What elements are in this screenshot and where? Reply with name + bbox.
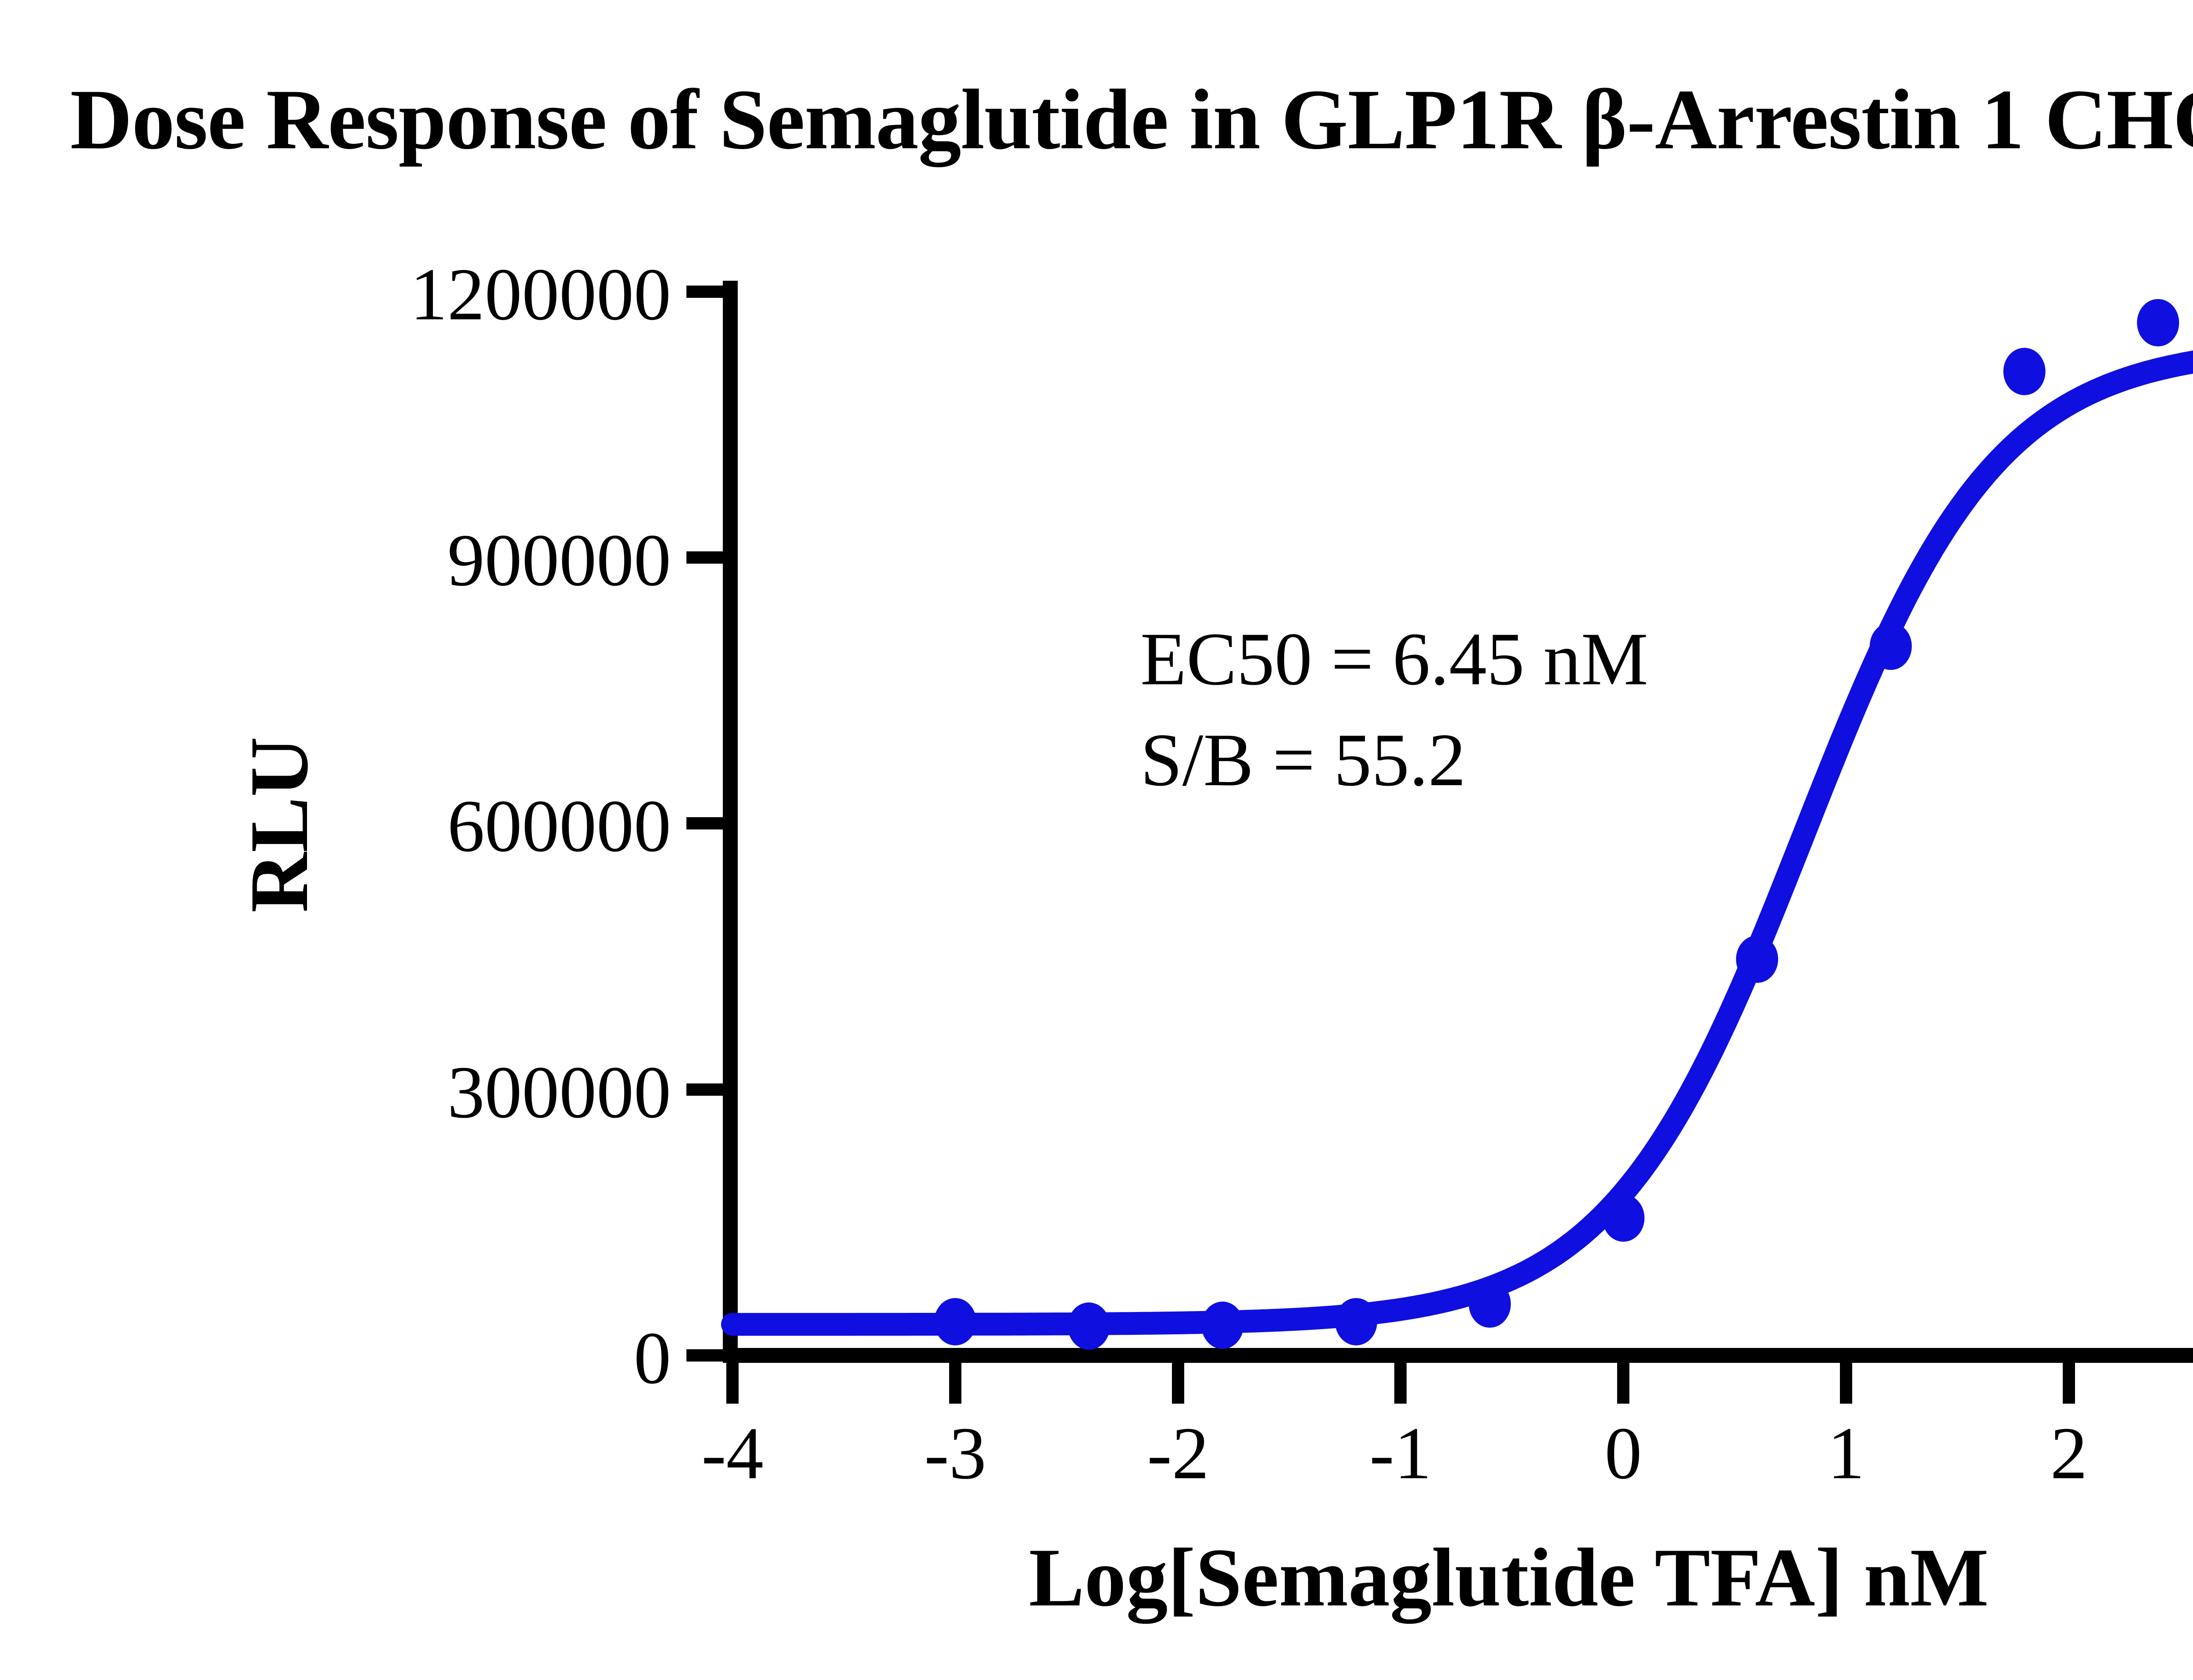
- data-point: [2137, 299, 2179, 347]
- y-tick-label-4: 1200000: [410, 253, 671, 336]
- x-tick-label-1: -3: [924, 1412, 986, 1494]
- data-point: [1736, 936, 1778, 983]
- y-tick-label-3: 900000: [447, 519, 671, 601]
- data-point: [1335, 1298, 1377, 1345]
- y-tick-label-2: 600000: [447, 785, 671, 867]
- x-tick-label-6: 2: [2050, 1412, 2088, 1494]
- y-tick-label-1: 300000: [447, 1051, 671, 1133]
- x-tick-label-5: 1: [1828, 1412, 1865, 1494]
- y-axis-title: RLU: [233, 736, 325, 912]
- data-point: [1201, 1301, 1243, 1349]
- data-point: [1469, 1280, 1511, 1328]
- figure-canvas: Dose Response of Semaglutide in GLP1R β-…: [0, 0, 2193, 1680]
- y-tick-label-0: 0: [634, 1317, 671, 1399]
- x-tick-label-3: -1: [1369, 1412, 1432, 1494]
- annotation-signal-to-background: S/B = 55.2: [1140, 718, 1466, 802]
- x-tick-label-2: -2: [1147, 1412, 1209, 1494]
- x-axis-title: Log[Semaglutide TFA] nM: [1029, 1532, 1989, 1624]
- data-point: [1870, 622, 1912, 670]
- x-tick-label-0: -4: [701, 1412, 764, 1494]
- data-point: [934, 1298, 976, 1345]
- x-tick-label-4: 0: [1605, 1412, 1642, 1494]
- chart-plot-area: 1200000 900000 600000 300000 0 -4 -3 -2 …: [0, 0, 2193, 1680]
- data-point: [1068, 1302, 1110, 1350]
- data-point: [2004, 348, 2046, 395]
- annotation-ec50: EC50 = 6.45 nM: [1140, 618, 1648, 701]
- dose-response-fit-curve: [732, 351, 2193, 1325]
- data-point: [1602, 1194, 1644, 1242]
